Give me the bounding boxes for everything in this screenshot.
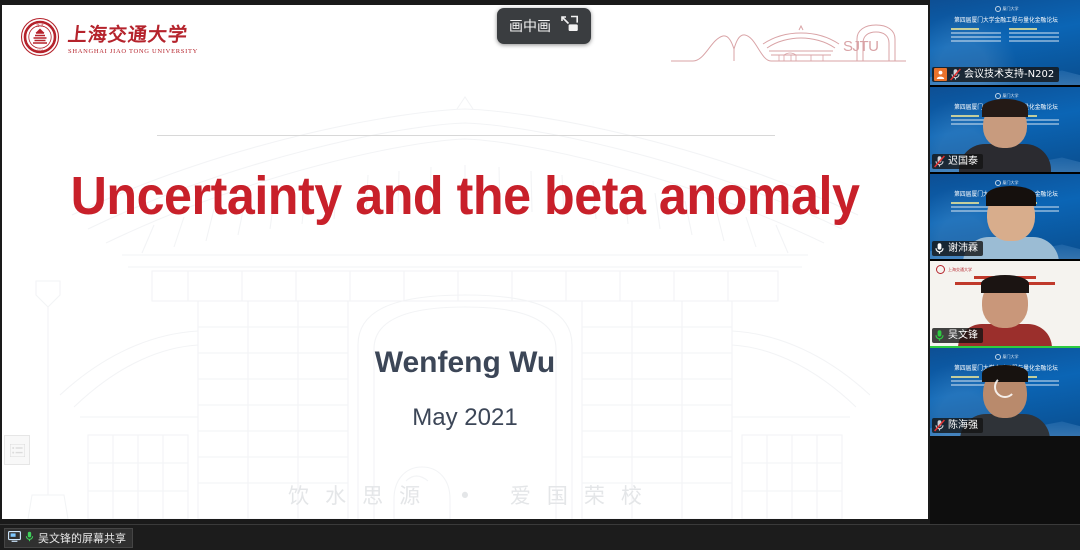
background-header: 厦门大学 第四届厦门大学金融工程与量化金融论坛 (942, 6, 1071, 24)
participant-name: 迟国泰 (948, 154, 978, 169)
mic-muted-icon (934, 419, 945, 432)
mic-muted-icon (934, 155, 945, 168)
sjtu-seal-icon: 交 大 1896 (20, 17, 60, 57)
sjtu-name-en: SHANGHAI JIAO TONG UNIVERSITY (68, 48, 198, 55)
mic-muted-icon (950, 68, 961, 81)
campus-gate-watermark (2, 95, 928, 519)
background-title: 第四届厦门大学金融工程与量化金融论坛 (955, 15, 1059, 24)
taskbar-item-screen-share[interactable]: 吴文锋的屏幕共享 (4, 528, 133, 548)
sjtu-name-cn: 上海交通大学 (67, 20, 200, 47)
background-logo: 上海交通大学 (936, 265, 972, 274)
participant-name: 陈海强 (948, 418, 978, 433)
participant-video-rail: 厦门大学 第四届厦门大学金融工程与量化金融论坛 (930, 0, 1080, 524)
participant-nametag: 吴文锋 (932, 328, 983, 343)
sjtu-campus-lineart-icon: SJTU (671, 21, 906, 69)
zoom-meeting-window: 交 大 1896 上海交通大学 SHANGHAI JIAO TONG UNIVE… (0, 0, 1080, 550)
slide-list-icon[interactable] (4, 435, 30, 465)
background-logo: 厦门大学 (995, 6, 1019, 12)
participant-nametag: 迟国泰 (932, 154, 983, 169)
svg-text:SJTU: SJTU (843, 38, 879, 55)
participant-name: 吴文锋 (948, 328, 978, 343)
presentation-slide: 交 大 1896 上海交通大学 SHANGHAI JIAO TONG UNIVE… (2, 5, 928, 519)
participant-nametag: 谢沛霖 (932, 241, 983, 256)
sjtu-logo: 交 大 1896 上海交通大学 SHANGHAI JIAO TONG UNIVE… (20, 17, 198, 57)
talk-date: May 2021 (2, 404, 928, 432)
background-logo: 厦门大学 (995, 354, 1019, 360)
mic-unmuted-icon (934, 242, 945, 255)
sjtu-wordmark: 上海交通大学 SHANGHAI JIAO TONG UNIVERSITY (68, 20, 198, 55)
title-divider (157, 135, 775, 136)
background-logo: 厦门大学 (995, 180, 1019, 186)
background-columns (951, 28, 1059, 42)
participant-tile[interactable]: 厦门大学 第四届厦门大学金融工程与量化金融论坛 (930, 348, 1080, 436)
mic-active-icon (934, 329, 945, 342)
mic-active-icon (25, 529, 34, 547)
picture-in-picture-bar[interactable]: 画中画 (497, 8, 591, 44)
svg-text:交 大: 交 大 (36, 22, 44, 27)
participant-tile[interactable]: 厦门大学 第四届厦门大学金融工程与量化金融论坛 (930, 174, 1080, 261)
picture-in-picture-icon[interactable] (560, 15, 579, 38)
screen-share-area: 交 大 1896 上海交通大学 SHANGHAI JIAO TONG UNIVE… (0, 0, 930, 524)
university-motto: 饮水思源 • 爱国荣校 (2, 480, 928, 510)
participant-tile[interactable]: 厦门大学 第四届厦门大学金融工程与量化金融论坛 (930, 87, 1080, 174)
participant-name: 谢沛霖 (948, 241, 978, 256)
participant-name: 会议技术支持-N202 (964, 67, 1054, 82)
taskbar-item-label: 吴文锋的屏幕共享 (38, 530, 126, 546)
svg-text:1896: 1896 (37, 49, 44, 53)
person-avatar-icon (934, 68, 947, 81)
participant-tile[interactable]: 厦门大学 第四届厦门大学金融工程与量化金融论坛 (930, 0, 1080, 87)
pip-button-label[interactable]: 画中画 (509, 16, 551, 36)
screen-share-icon (8, 529, 21, 547)
page-title: Uncertainty and the beta anomaly (34, 165, 895, 227)
participant-tile-active-speaker[interactable]: 上海交通大学 吴文锋 (930, 261, 1080, 348)
participant-nametag: 会议技术支持-N202 (932, 67, 1059, 82)
loading-spinner-icon (994, 376, 1016, 398)
author-name: Wenfeng Wu (2, 346, 928, 380)
taskbar: 吴文锋的屏幕共享 (0, 524, 1080, 550)
participant-nametag: 陈海强 (932, 418, 983, 433)
